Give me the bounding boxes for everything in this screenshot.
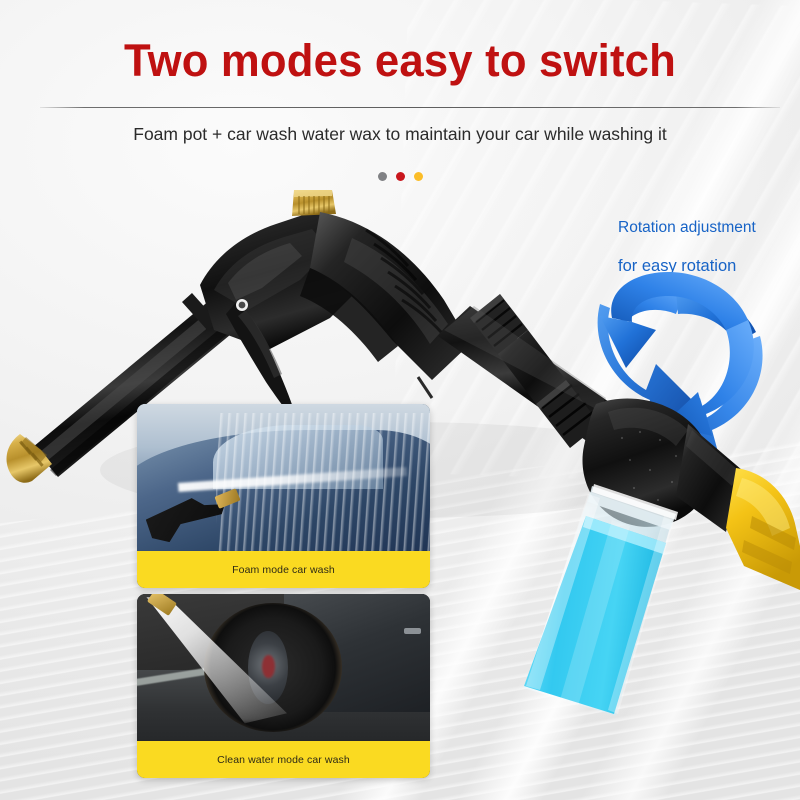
foam-mode-card[interactable]: Foam mode car wash — [137, 404, 430, 588]
ribbed-collar-b — [536, 380, 600, 448]
gun-head-body — [200, 210, 372, 350]
swivel-head — [582, 398, 711, 526]
brass-top-fitting — [292, 190, 336, 216]
photo-door-handle — [404, 628, 421, 634]
annotation-for-easy-rotation: for easy rotation — [618, 257, 736, 276]
outlet-elbow — [676, 424, 742, 532]
grip-ridges — [366, 230, 441, 332]
title-divider — [40, 107, 780, 108]
page-title: Two modes easy to switch — [12, 34, 788, 88]
dot-grey — [378, 172, 387, 181]
page-subtitle: Foam pot + car wash water wax to maintai… — [0, 122, 800, 146]
rotation-arrow-overlay — [600, 272, 754, 436]
rotation-arrow-icon — [598, 286, 763, 452]
yellow-hose-connector — [726, 468, 800, 590]
photo-brake-caliper — [262, 655, 274, 678]
gun-handle — [300, 212, 470, 380]
product-banner: Two modes easy to switch Foam pot + car … — [0, 0, 800, 800]
brass-nozzle-tip — [7, 434, 53, 483]
dot-red — [396, 172, 405, 181]
foam-bottle — [524, 484, 678, 716]
foam-mode-caption: Foam mode car wash — [137, 551, 430, 588]
foam-mode-photo — [137, 404, 430, 551]
dot-indicator-group — [0, 172, 800, 181]
handle-pin — [418, 377, 432, 398]
bottle-liquid — [524, 516, 666, 714]
clean-water-mode-photo — [137, 594, 430, 741]
clean-water-mode-caption: Clean water mode car wash — [137, 741, 430, 778]
clean-water-mode-card[interactable]: Clean water mode car wash — [137, 594, 430, 778]
gun-mid-shaft — [438, 294, 612, 448]
dot-yellow — [414, 172, 423, 181]
annotation-rotation-adjustment: Rotation adjustment — [618, 219, 756, 237]
ribbed-collar-a — [470, 294, 528, 354]
